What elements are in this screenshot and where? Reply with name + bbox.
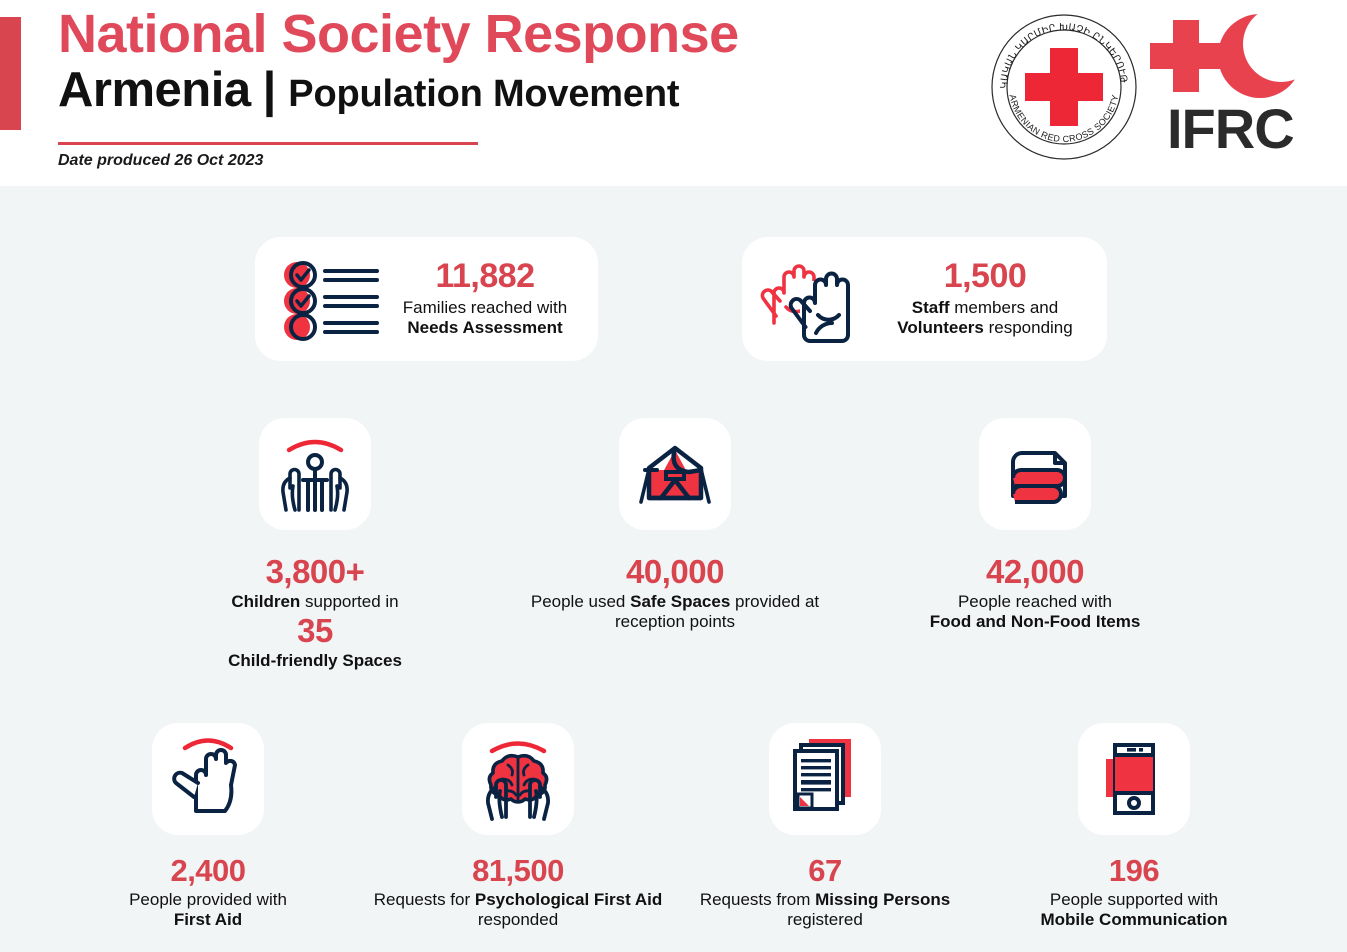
subtitle-row: Armenia | Population Movement	[58, 65, 739, 116]
icon-box-mobile	[1078, 723, 1190, 835]
stat-label: People used Safe Spaces provided at rece…	[525, 592, 825, 632]
page-title: National Society Response	[58, 6, 739, 63]
label-line-1: Families reached with	[403, 298, 567, 317]
label-rest-2: responding	[984, 318, 1073, 337]
stat-label: Children supported in	[165, 592, 465, 612]
stat-label: People reached withFood and Non-Food Ite…	[885, 592, 1185, 632]
label-rest-1: supported in	[300, 592, 398, 611]
documents-icon	[769, 723, 881, 835]
stat-label: People provided withFirst Aid	[58, 890, 358, 930]
icon-box-tent	[619, 418, 731, 530]
label-bold: Food and Non-Food Items	[930, 612, 1141, 631]
subtitle-country: Armenia	[58, 65, 251, 116]
stat-number: 3,800+	[165, 553, 465, 591]
label-bold-1: Staff	[912, 298, 950, 317]
stat-number: 11,882	[380, 257, 590, 296]
subtitle-topic: Population Movement	[288, 75, 679, 115]
stat-label: Staff members and Volunteers responding	[870, 298, 1100, 338]
stat-number: 81,500	[368, 853, 668, 889]
stat-text-staff-volunteers: 1,500 Staff members and Volunteers respo…	[870, 257, 1100, 338]
date-produced-label: Date produced 26 Oct 2023	[58, 152, 263, 170]
label-line-2: Needs Assessment	[407, 318, 562, 337]
stat-number: 196	[984, 853, 1284, 889]
title-block: National Society Response Armenia | Popu…	[58, 6, 739, 116]
stat-label: People supported withMobile Communicatio…	[984, 890, 1284, 930]
label-bold-2: Child-friendly Spaces	[228, 651, 402, 670]
icon-box-documents	[769, 723, 881, 835]
label-pre: Requests for	[374, 890, 475, 909]
stat-text-needs-assessment: 11,882 Families reached with Needs Asses…	[380, 257, 590, 338]
label-bold: First Aid	[174, 910, 242, 929]
stat-number: 42,000	[885, 553, 1185, 591]
stat-card-needs-assessment: 11,882 Families reached with Needs Asses…	[255, 237, 598, 361]
stat-text-missing-persons: 67 Requests from Missing Persons registe…	[675, 853, 975, 930]
stat-number: 1,500	[870, 257, 1100, 296]
ifrc-wordmark: IFRC	[1167, 96, 1294, 161]
header-accent-bar	[0, 17, 21, 130]
armenian-red-cross-seal-icon: ՀԱՅԿԱԿԱՆ ԿԱՐՄԻՐ ԽԱՉԻ ԸՆԿԵՐՈՒԹՅՈՒՆ ARMENI…	[989, 12, 1139, 162]
tent-icon	[619, 418, 731, 530]
mobile-phone-icon	[1078, 723, 1190, 835]
icon-box-blankets	[979, 418, 1091, 530]
stat-text-mobile-communication: 196 People supported withMobile Communic…	[984, 853, 1284, 930]
label-post: responded	[478, 910, 558, 929]
label-pre: People used	[531, 592, 630, 611]
stat-label-secondary: Child-friendly Spaces	[165, 651, 465, 671]
protective-hands-child-icon	[259, 418, 371, 530]
stat-text-first-aid: 2,400 People provided withFirst Aid	[58, 853, 358, 930]
stat-text-safe-spaces: 40,000 People used Safe Spaces provided …	[525, 553, 825, 632]
hands-first-aid-icon	[152, 723, 264, 835]
label-post: registered	[787, 910, 863, 929]
label-bold-2: Volunteers	[897, 318, 984, 337]
icon-box-psychological	[462, 723, 574, 835]
label-bold-1: Children	[231, 592, 300, 611]
stat-number: 40,000	[525, 553, 825, 591]
red-cross-icon-vertical	[1173, 20, 1199, 92]
red-crescent-cutout	[1243, 6, 1319, 82]
label-bold: Missing Persons	[815, 890, 950, 909]
title-divider	[58, 142, 478, 145]
label-pre: People reached with	[958, 592, 1112, 611]
label-pre: People provided with	[129, 890, 287, 909]
hands-brain-icon	[462, 723, 574, 835]
subtitle-separator: |	[263, 65, 277, 116]
stat-number: 67	[675, 853, 975, 889]
label-bold: Psychological First Aid	[475, 890, 662, 909]
label-bold: Safe Spaces	[630, 592, 730, 611]
page-header: National Society Response Armenia | Popu…	[0, 0, 1347, 186]
label-pre: People supported with	[1050, 890, 1218, 909]
stat-label: Requests from Missing Persons registered	[675, 890, 975, 930]
stat-number-secondary: 35	[165, 612, 465, 650]
stat-card-staff-volunteers: 1,500 Staff members and Volunteers respo…	[742, 237, 1107, 361]
ifrc-logo: IFRC	[1155, 12, 1303, 162]
stat-text-psychological-first-aid: 81,500 Requests for Psychological First …	[368, 853, 668, 930]
label-pre: Requests from	[700, 890, 815, 909]
label-bold: Mobile Communication	[1041, 910, 1228, 929]
blankets-icon	[979, 418, 1091, 530]
stat-text-food-nfi: 42,000 People reached withFood and Non-F…	[885, 553, 1185, 632]
stat-number: 2,400	[58, 853, 358, 889]
stat-text-children: 3,800+ Children supported in 35 Child-fr…	[165, 553, 465, 671]
logo-area: ՀԱՅԿԱԿԱՆ ԿԱՐՄԻՐ ԽԱՉԻ ԸՆԿԵՐՈՒԹՅՈՒՆ ARMENI…	[989, 12, 1303, 162]
icon-box-children	[259, 418, 371, 530]
ifrc-emblem	[1155, 12, 1303, 98]
label-rest-1: members and	[950, 298, 1059, 317]
stat-label: Requests for Psychological First Aid res…	[368, 890, 668, 930]
icon-box-first-aid	[152, 723, 264, 835]
stat-label: Families reached with Needs Assessment	[380, 298, 590, 338]
